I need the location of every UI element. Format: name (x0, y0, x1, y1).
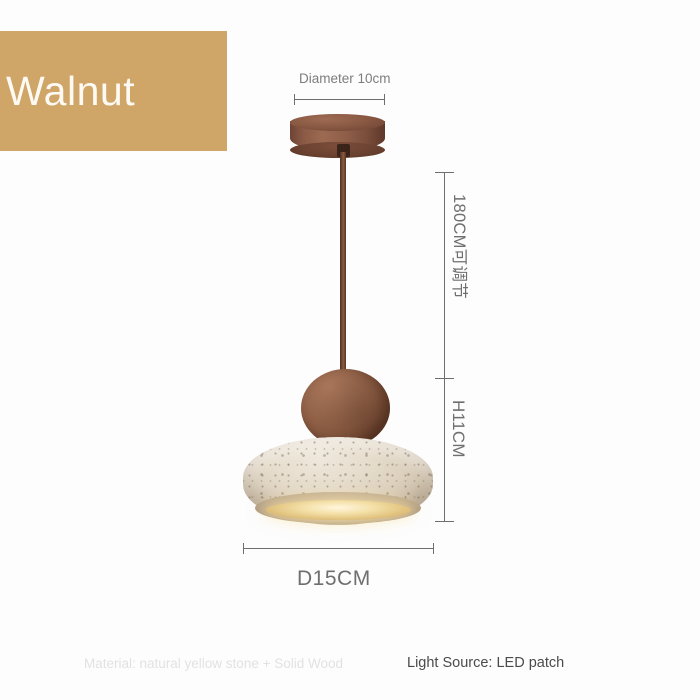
dimension-tick-drop-top (435, 172, 454, 173)
material-spec-text: Material: natural yellow stone + Solid W… (84, 657, 343, 671)
led-lens (266, 500, 411, 520)
dimension-label-shade-height: H11CM (450, 400, 467, 458)
product-spec-diagram: Walnut Diameter 10cm 180CM可调节 H11CM D15C… (0, 0, 700, 700)
suspension-rod (340, 152, 346, 380)
dimension-line-shade-height (444, 378, 445, 522)
dimension-tick-canopy-left (294, 94, 295, 105)
light-source-spec-text: Light Source: LED patch (407, 656, 564, 671)
dimension-line-shade-diameter (243, 548, 434, 549)
dimension-tick-width-right (433, 543, 434, 554)
dimension-label-drop-length: 180CM可调节 (451, 194, 468, 299)
dimension-line-canopy-diameter (294, 99, 385, 100)
ceiling-canopy-top (290, 114, 385, 131)
dimension-tick-canopy-right (384, 94, 385, 105)
pendant-lamp-illustration (0, 0, 700, 700)
dimension-tick-height-top (435, 378, 454, 379)
walnut-sphere-grain (301, 369, 390, 447)
dimension-label-shade-diameter: D15CM (297, 568, 371, 589)
dimension-label-canopy-diameter: Diameter 10cm (299, 72, 391, 86)
dimension-tick-height-bottom (435, 521, 454, 522)
dimension-tick-width-left (243, 543, 244, 554)
dimension-line-drop-length (444, 172, 445, 379)
